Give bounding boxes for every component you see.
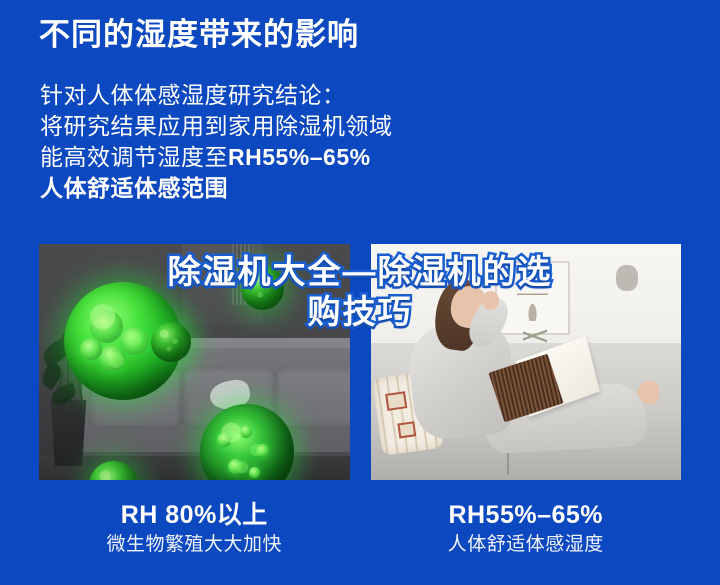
floor [39,456,350,480]
microbe-nucleus [256,444,269,457]
intro-paragraph: 针对人体体感湿度研究结论： 将研究结果应用到家用除湿机领域 能高效调节湿度至RH… [40,80,393,204]
microbe-nucleus [249,467,260,478]
intro-humidity-range: RH55%–65% [228,144,371,170]
sofa-cushion [275,367,350,428]
intro-line-4: 人体舒适体感范围 [40,173,393,204]
microbe-nucleus [217,433,231,447]
microbe-nucleus [99,345,125,371]
microbe-nucleus [240,425,252,437]
page-title: 不同的湿度带来的影响 [39,16,359,55]
microbe-nucleus [80,338,101,359]
caption-sub-text: 人体舒适体感湿度 [371,531,682,559]
caption-main-text: RH 80%以上 [39,500,350,531]
intro-line-3-prefix: 能高效调节湿度至 [40,144,228,170]
pillow-motif [385,391,407,410]
poster-root: 不同的湿度带来的影响 针对人体体感湿度研究结论： 将研究结果应用到家用除湿机领域… [0,0,720,585]
plant-pot [48,400,88,466]
intro-line-3: 能高效调节湿度至RH55%–65% [40,142,393,173]
caption-sub-text: 微生物繁殖大大加快 [39,531,350,559]
caption-row: RH 80%以上 微生物繁殖大大加快 RH55%–65% 人体舒适体感湿度 [39,500,681,559]
intro-line-1: 针对人体体感湿度研究结论： [40,80,393,111]
overlay-title-line-1: 除湿机大全—除湿机的选 [75,252,645,292]
pillow-motif [397,421,417,438]
microbe-nucleus [228,459,243,474]
overlay-title: 除湿机大全—除湿机的选 购技巧 [0,252,720,332]
caption-main-text: RH55%–65% [371,500,682,531]
caption-comfort-humidity: RH55%–65% 人体舒适体感湿度 [371,500,682,559]
overlay-title-line-2: 购技巧 [75,292,645,332]
woman-foot [638,381,660,405]
intro-line-2: 将研究结果应用到家用除湿机领域 [40,111,393,142]
caption-high-humidity: RH 80%以上 微生物繁殖大大加快 [39,500,350,559]
